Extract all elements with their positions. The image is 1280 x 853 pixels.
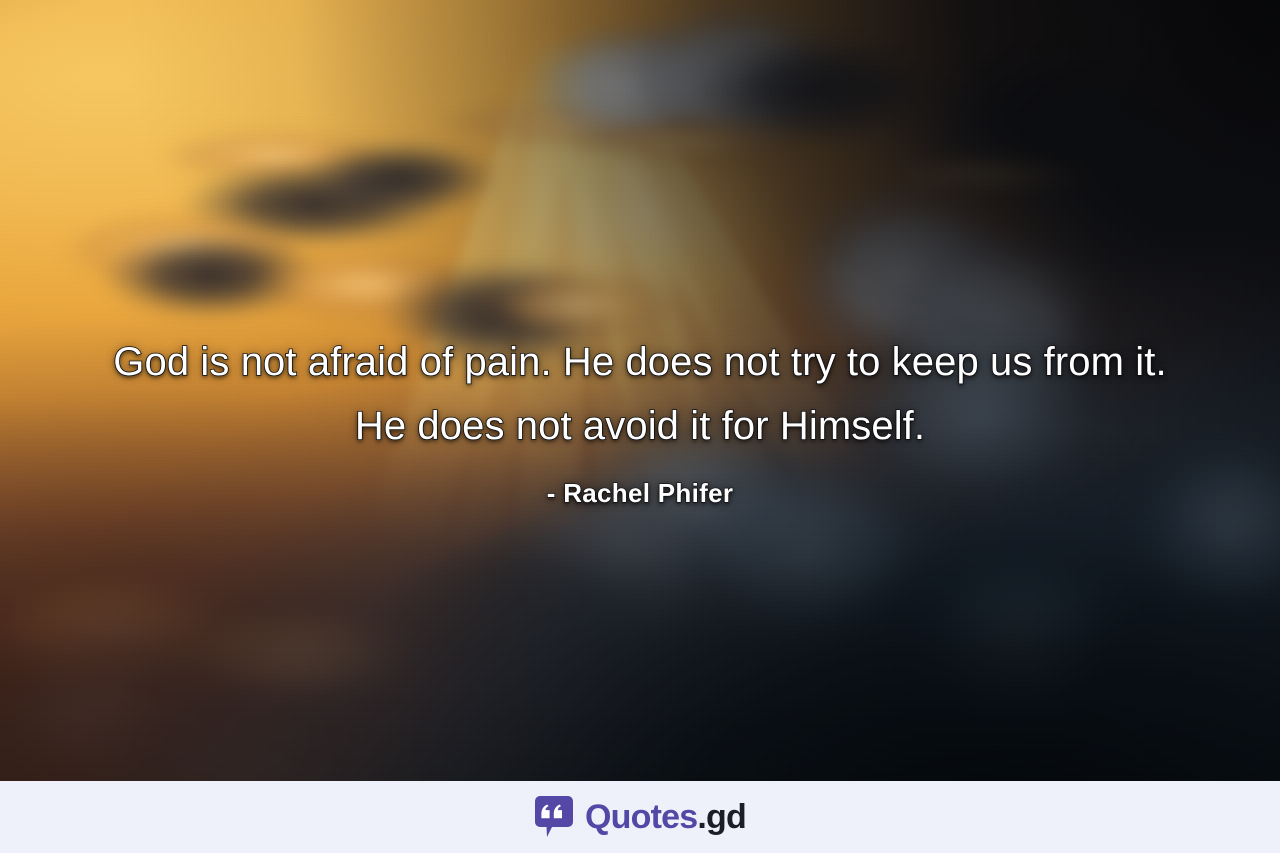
brand-wordmark: Quotes.gd bbox=[585, 800, 746, 834]
quote-author: - Rachel Phifer bbox=[0, 478, 1280, 508]
brand-tld: .gd bbox=[697, 798, 746, 836]
brand-logo[interactable]: Quotes.gd bbox=[534, 795, 746, 839]
quote-overlay: God is not afraid of pain. He does not t… bbox=[0, 330, 1280, 508]
quote-bubble-icon bbox=[534, 795, 574, 839]
footer-bar: Quotes.gd bbox=[0, 781, 1280, 853]
quote-card-page: God is not afraid of pain. He does not t… bbox=[0, 0, 1280, 853]
brand-name: Quotes bbox=[585, 798, 697, 836]
quote-text: God is not afraid of pain. He does not t… bbox=[85, 330, 1195, 458]
